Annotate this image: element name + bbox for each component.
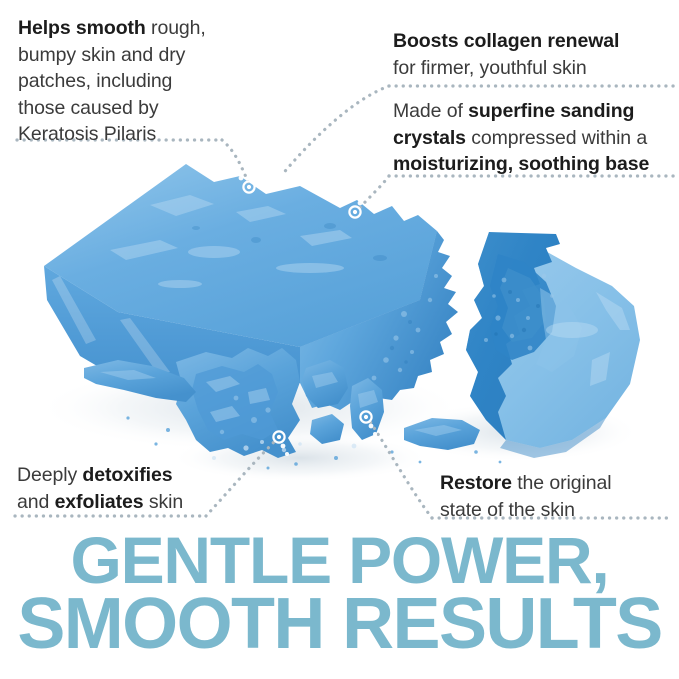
callout-line: Boosts collagen renewal xyxy=(393,28,679,55)
headline-line-1: GENTLE POWER, xyxy=(0,528,679,592)
callout-markers xyxy=(243,173,371,442)
callout-superfine-crystals: Made of superfine sanding crystals compr… xyxy=(393,98,679,178)
soap-main-bar xyxy=(44,164,458,410)
callout-normal-text: compressed within a xyxy=(466,127,647,149)
callout-marker-detox xyxy=(273,431,284,442)
callout-line: those caused by xyxy=(18,95,338,122)
callout-normal-text: and xyxy=(17,491,55,513)
callout-line: state of the skin xyxy=(440,497,679,524)
callout-line: Restore the original xyxy=(440,470,679,497)
callout-bold-text: Helps smooth xyxy=(18,17,146,39)
callout-bold-text: Restore xyxy=(440,472,512,494)
callout-bold-text: moisturizing, soothing base xyxy=(393,153,649,175)
callout-deeply-detoxifies: Deeply detoxifies and exfoliates skin xyxy=(17,462,287,515)
infographic-canvas: Helps smooth rough, bumpy skin and dry p… xyxy=(0,0,679,679)
callout-bold-text: detoxifies xyxy=(82,464,172,486)
callout-line: and exfoliates skin xyxy=(17,489,287,516)
callout-line: Made of superfine sanding xyxy=(393,98,679,125)
soap-center-crumbs xyxy=(84,348,501,470)
callout-marker-crystals xyxy=(349,206,360,217)
marker-bead-trails xyxy=(233,161,381,456)
callout-line: crystals compressed within a xyxy=(393,125,679,152)
callout-marker-smooth xyxy=(243,181,254,192)
callout-normal-text: the original xyxy=(512,472,612,494)
soap-right-chunk xyxy=(466,232,640,458)
callout-line: Keratosis Pilaris xyxy=(18,121,338,148)
callout-line: bumpy skin and dry xyxy=(18,42,338,69)
headline: GENTLE POWER, SMOOTH RESULTS xyxy=(0,528,679,656)
headline-line-2: SMOOTH RESULTS xyxy=(0,592,679,656)
callout-restore-original: Restore the original state of the skin xyxy=(440,470,679,523)
callout-bold-text: superfine sanding xyxy=(468,100,634,122)
callout-bold-text: Boosts collagen renewal xyxy=(393,30,619,52)
callout-normal-text: Deeply xyxy=(17,464,82,486)
callout-bold-text: exfoliates xyxy=(55,491,144,513)
callout-bold-text: crystals xyxy=(393,127,466,149)
callout-line: Deeply detoxifies xyxy=(17,462,287,489)
callout-line: for firmer, youthful skin xyxy=(393,55,679,82)
callout-normal-text: rough, xyxy=(146,17,206,39)
callout-line: moisturizing, soothing base xyxy=(393,151,679,178)
callout-line: patches, including xyxy=(18,68,338,95)
callout-normal-text: skin xyxy=(144,491,184,513)
connector-crystals-lead xyxy=(358,176,389,210)
callout-helps-smooth: Helps smooth rough, bumpy skin and dry p… xyxy=(18,15,338,148)
callout-line: Helps smooth rough, xyxy=(18,15,338,42)
callout-boosts-collagen: Boosts collagen renewal for firmer, yout… xyxy=(393,28,679,81)
callout-normal-text: Made of xyxy=(393,100,468,122)
callout-marker-restore xyxy=(360,411,371,422)
callout-marker-collagen xyxy=(272,173,283,184)
connector-restore-lead xyxy=(369,420,432,518)
